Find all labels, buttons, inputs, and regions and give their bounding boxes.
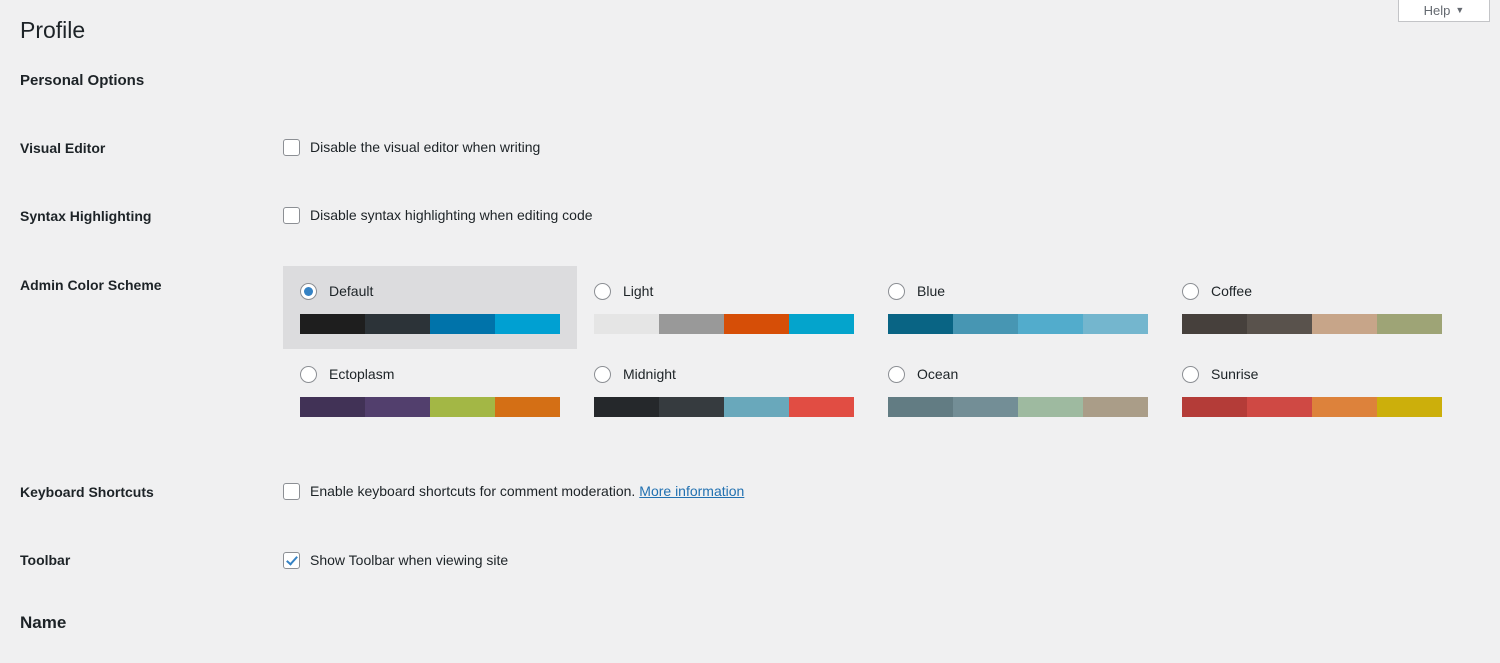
color-scheme-head: Sunrise (1182, 365, 1442, 383)
palette-swatch-4 (789, 397, 854, 417)
color-scheme-option-blue[interactable]: Blue (871, 266, 1165, 349)
color-scheme-row-1: Default Light Blue (283, 266, 1483, 349)
color-scheme-palette-midnight (594, 397, 854, 417)
color-scheme-label-midnight: Midnight (623, 367, 676, 381)
palette-swatch-2 (1247, 314, 1312, 334)
row-label-visual-editor: Visual Editor (20, 139, 105, 157)
color-scheme-radio-default[interactable] (300, 283, 317, 300)
color-scheme-palette-coffee (1182, 314, 1442, 334)
color-scheme-label-light: Light (623, 284, 653, 298)
color-scheme-option-light[interactable]: Light (577, 266, 871, 349)
palette-swatch-1 (594, 397, 659, 417)
section-heading-name: Name (20, 613, 66, 633)
palette-swatch-4 (495, 314, 560, 334)
color-scheme-label-default: Default (329, 284, 373, 298)
palette-swatch-4 (1083, 397, 1148, 417)
color-scheme-label-ectoplasm: Ectoplasm (329, 367, 394, 381)
keyboard-shortcuts-checkbox-label[interactable]: Enable keyboard shortcuts for comment mo… (310, 482, 635, 502)
palette-swatch-1 (300, 314, 365, 334)
color-scheme-label-coffee: Coffee (1211, 284, 1252, 298)
palette-swatch-2 (953, 397, 1018, 417)
color-scheme-palette-light (594, 314, 854, 334)
palette-swatch-3 (1018, 397, 1083, 417)
palette-swatch-1 (1182, 397, 1247, 417)
palette-swatch-3 (1018, 314, 1083, 334)
row-field-toolbar: Show Toolbar when viewing site (283, 551, 508, 571)
color-scheme-radio-midnight[interactable] (594, 366, 611, 383)
admin-color-scheme-grid: Default Light Blue (283, 266, 1483, 432)
color-scheme-head: Midnight (594, 365, 854, 383)
color-scheme-option-default[interactable]: Default (283, 266, 577, 349)
color-scheme-palette-default (300, 314, 560, 334)
color-scheme-palette-sunrise (1182, 397, 1442, 417)
palette-swatch-3 (430, 314, 495, 334)
visual-editor-checkbox[interactable] (283, 139, 300, 156)
color-scheme-head: Coffee (1182, 282, 1442, 300)
color-scheme-palette-ocean (888, 397, 1148, 417)
color-scheme-radio-blue[interactable] (888, 283, 905, 300)
row-label-admin-color-scheme: Admin Color Scheme (20, 276, 162, 294)
color-scheme-label-blue: Blue (917, 284, 945, 298)
palette-swatch-4 (1083, 314, 1148, 334)
color-scheme-radio-ocean[interactable] (888, 366, 905, 383)
palette-swatch-2 (953, 314, 1018, 334)
palette-swatch-3 (724, 397, 789, 417)
help-tab[interactable]: Help ▼ (1398, 0, 1490, 22)
visual-editor-checkbox-label[interactable]: Disable the visual editor when writing (310, 138, 540, 158)
row-label-toolbar: Toolbar (20, 551, 70, 569)
palette-swatch-2 (659, 397, 724, 417)
row-field-syntax-highlighting: Disable syntax highlighting when editing… (283, 206, 593, 226)
palette-swatch-1 (1182, 314, 1247, 334)
color-scheme-head: Default (300, 282, 560, 300)
color-scheme-radio-coffee[interactable] (1182, 283, 1199, 300)
keyboard-shortcuts-checkbox[interactable] (283, 483, 300, 500)
color-scheme-radio-light[interactable] (594, 283, 611, 300)
color-scheme-radio-sunrise[interactable] (1182, 366, 1199, 383)
toolbar-checkbox-label[interactable]: Show Toolbar when viewing site (310, 551, 508, 571)
palette-swatch-1 (594, 314, 659, 334)
color-scheme-option-midnight[interactable]: Midnight (577, 349, 871, 432)
palette-swatch-3 (1312, 397, 1377, 417)
color-scheme-label-ocean: Ocean (917, 367, 958, 381)
palette-swatch-3 (1312, 314, 1377, 334)
color-scheme-palette-blue (888, 314, 1148, 334)
color-scheme-radio-ectoplasm[interactable] (300, 366, 317, 383)
palette-swatch-2 (365, 314, 430, 334)
palette-swatch-4 (1377, 314, 1442, 334)
chevron-down-icon: ▼ (1455, 6, 1464, 15)
row-field-keyboard-shortcuts: Enable keyboard shortcuts for comment mo… (283, 482, 744, 502)
palette-swatch-4 (1377, 397, 1442, 417)
color-scheme-row-2: Ectoplasm Midnight (283, 349, 1483, 432)
row-field-visual-editor: Disable the visual editor when writing (283, 138, 540, 158)
help-tab-text: Help (1424, 4, 1451, 17)
palette-swatch-1 (888, 314, 953, 334)
page-title: Profile (20, 16, 85, 46)
color-scheme-head: Ocean (888, 365, 1148, 383)
palette-swatch-1 (300, 397, 365, 417)
palette-swatch-2 (659, 314, 724, 334)
palette-swatch-1 (888, 397, 953, 417)
color-scheme-head: Ectoplasm (300, 365, 560, 383)
color-scheme-head: Light (594, 282, 854, 300)
help-tab-label: Help ▼ (1424, 4, 1465, 17)
row-label-syntax-highlighting: Syntax Highlighting (20, 207, 151, 225)
color-scheme-option-sunrise[interactable]: Sunrise (1165, 349, 1459, 432)
toolbar-checkbox[interactable] (283, 552, 300, 569)
color-scheme-option-ectoplasm[interactable]: Ectoplasm (283, 349, 577, 432)
color-scheme-option-ocean[interactable]: Ocean (871, 349, 1165, 432)
palette-swatch-3 (724, 314, 789, 334)
color-scheme-label-sunrise: Sunrise (1211, 367, 1258, 381)
more-information-link[interactable]: More information (639, 482, 744, 502)
syntax-highlighting-checkbox-label[interactable]: Disable syntax highlighting when editing… (310, 206, 593, 226)
section-heading-personal-options: Personal Options (20, 72, 144, 89)
syntax-highlighting-checkbox[interactable] (283, 207, 300, 224)
palette-swatch-4 (495, 397, 560, 417)
palette-swatch-3 (430, 397, 495, 417)
color-scheme-palette-ectoplasm (300, 397, 560, 417)
palette-swatch-4 (789, 314, 854, 334)
palette-swatch-2 (1247, 397, 1312, 417)
color-scheme-head: Blue (888, 282, 1148, 300)
color-scheme-option-coffee[interactable]: Coffee (1165, 266, 1459, 349)
palette-swatch-2 (365, 397, 430, 417)
row-label-keyboard-shortcuts: Keyboard Shortcuts (20, 483, 154, 501)
